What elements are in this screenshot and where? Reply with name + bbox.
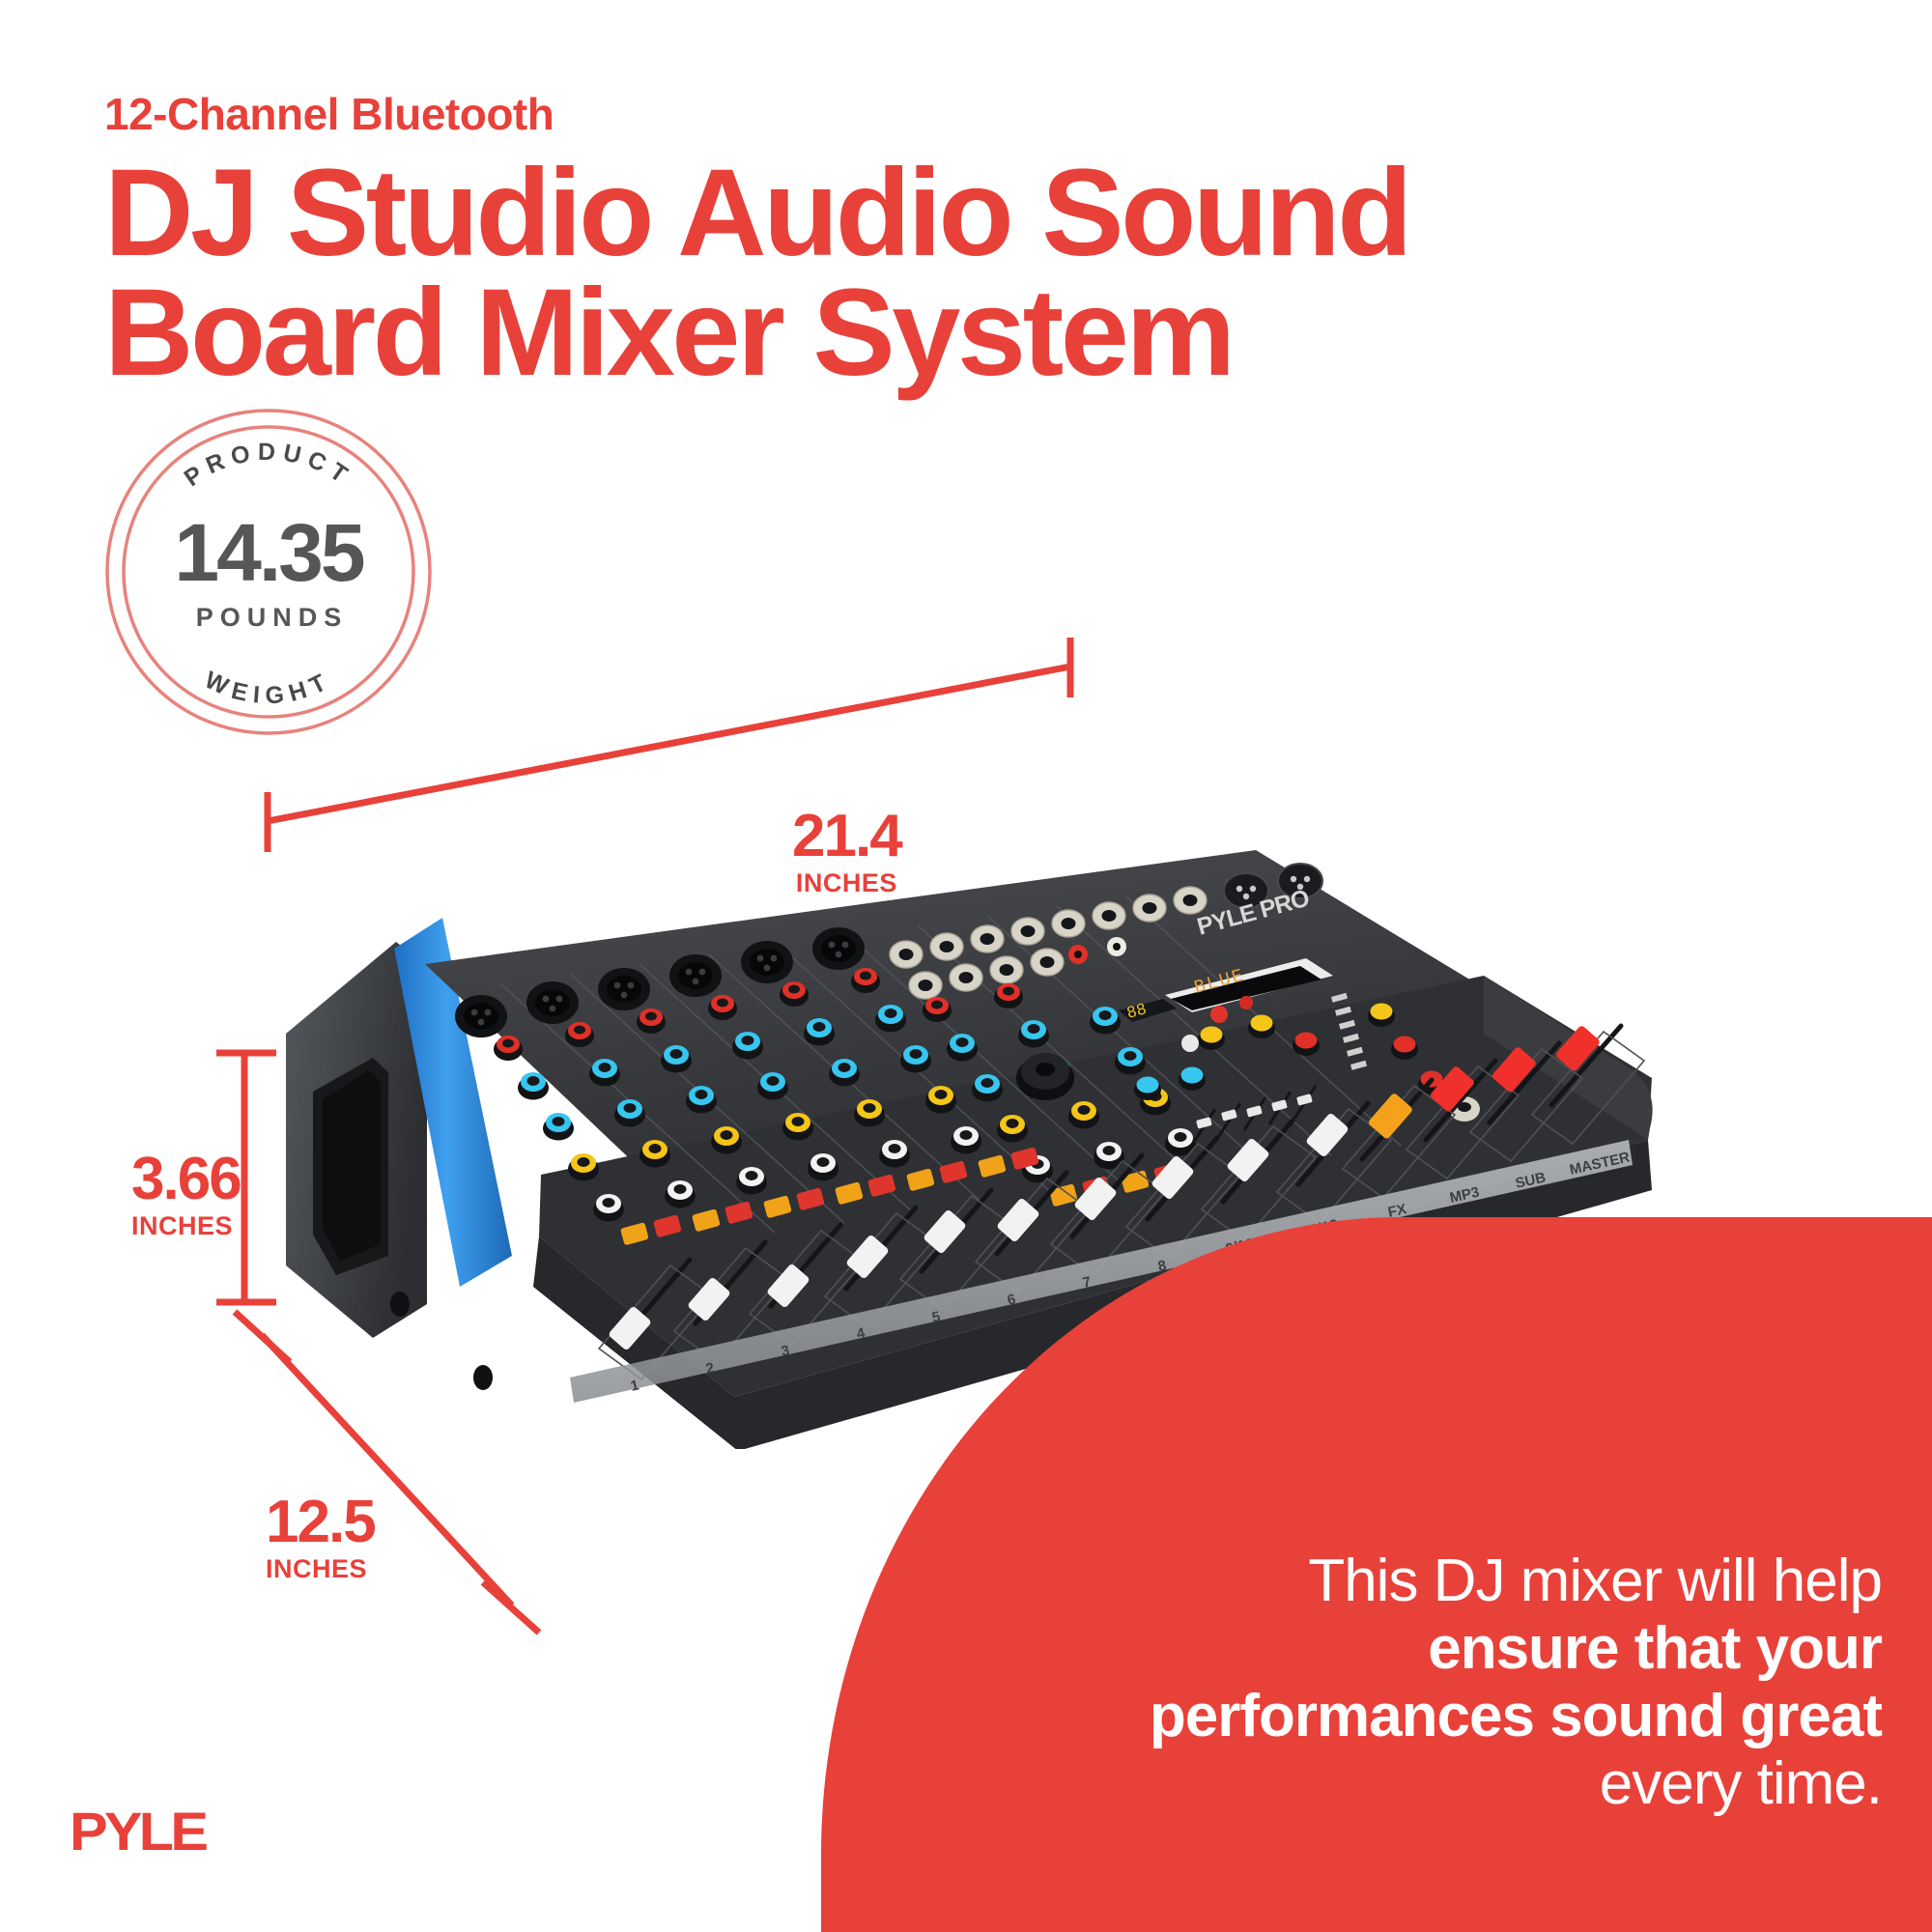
pyle-brand-logo: PYLE [70,1800,205,1862]
badge-inner-ring [124,427,413,717]
dimension-label-depth: 12.5 INCHES [266,1492,375,1584]
mixer-front-jack-holes [390,1292,493,1390]
badge-arc-top-text: PRODUCT [180,439,358,493]
product-weight-badge: PRODUCT WEIGHT 14.35 POUNDS [95,406,442,739]
dimension-label-height: 3.66 INCHES [131,1150,241,1241]
infographic-canvas: 12-Channel Bluetooth DJ Studio Audio Sou… [0,0,1932,1932]
callout-segment-1: This DJ mixer will help [1308,1548,1882,1614]
dimension-depth-unit: INCHES [266,1554,375,1584]
callout-segment-3: every time. [1600,1750,1882,1817]
dimension-height-unit: INCHES [131,1211,241,1241]
badge-arc-bottom-text: WEIGHT [201,667,337,710]
dimension-depth-value: 12.5 [266,1492,375,1552]
eyebrow-text: 12-Channel Bluetooth [104,92,1457,136]
title-line-1: DJ Studio Audio Sound [104,144,1409,282]
headline-block: 12-Channel Bluetooth DJ Studio Audio Sou… [104,92,1457,393]
callout-text: This DJ mixer will help ensure that your… [1128,1548,1882,1818]
page-title: DJ Studio Audio Sound Board Mixer System [104,154,1457,393]
callout-panel: This DJ mixer will help ensure that your… [821,1217,1932,1932]
title-line-2: Board Mixer System [104,273,1457,393]
dimension-height-value: 3.66 [131,1150,241,1209]
badge-rings-and-arc-text: PRODUCT WEIGHT [95,406,442,739]
callout-segment-2: ensure that your performances sound grea… [1150,1615,1882,1749]
depth-bottom-tick [483,1582,539,1633]
mixer-handle-inner [323,1070,381,1261]
